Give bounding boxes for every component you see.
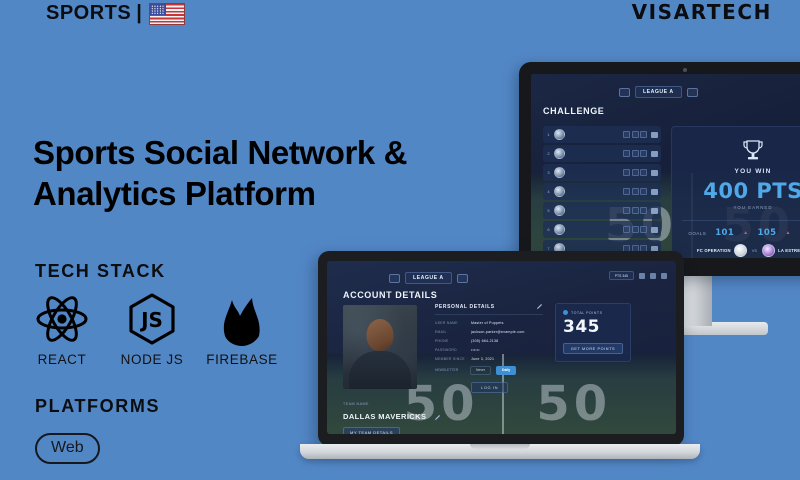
divider xyxy=(435,314,543,315)
laptop-screen: 50 50 LEAGUE A PTS 345 ACCOUNT DETAILS xyxy=(327,261,676,434)
avatar xyxy=(554,224,565,235)
field-label: EMAIL xyxy=(435,330,465,334)
total-points-label: TOTAL POINTS xyxy=(571,311,603,315)
get-more-points-button[interactable]: GET MORE POINTS xyxy=(563,343,623,354)
tech-item-label: FIREBASE xyxy=(206,352,278,367)
monitor-screen-title: CHALLENGE xyxy=(543,106,604,116)
player-photo xyxy=(343,305,417,389)
play-button[interactable] xyxy=(651,189,658,195)
svg-text:JS: JS xyxy=(139,308,163,332)
score-left-value: 101 xyxy=(715,228,734,238)
win-result-panel: YOU WIN 400 PTS YOU EARNED GOALS 101 ▲ 1… xyxy=(671,126,800,258)
list-item[interactable]: 4 xyxy=(543,183,661,200)
match-score-row: GOALS 101 ▲ 105 ▲ GOALS xyxy=(672,228,800,238)
personal-details-title: PERSONAL DETAILS xyxy=(435,304,495,310)
total-points-card: TOTAL POINTS 345 GET MORE POINTS xyxy=(555,303,631,362)
field-yard-marker: 50 xyxy=(536,376,611,432)
play-button[interactable] xyxy=(651,208,658,214)
monitor-screen: 50 50 LEAGUE A CHALLENGE 1 xyxy=(531,74,800,258)
play-button[interactable] xyxy=(651,132,658,138)
platform-badge-web: Web xyxy=(35,433,100,464)
rank-number: 6 xyxy=(546,227,551,232)
avatar xyxy=(554,205,565,216)
avatar xyxy=(554,129,565,140)
team-name-value: DALLAS MAVERICKS xyxy=(343,412,435,421)
laptop-screen-title: ACCOUNT DETAILS xyxy=(343,290,437,300)
stat-chips xyxy=(623,169,647,176)
team-info-block: TEAM NAME DALLAS MAVERICKS MY TEAM DETAI… xyxy=(343,392,435,434)
field-value: •••••• xyxy=(471,348,480,352)
pencil-icon[interactable] xyxy=(536,303,543,310)
points-status-pill[interactable]: PTS 345 xyxy=(609,271,634,280)
category-label: SPORTS xyxy=(46,2,131,25)
personal-details-header: PERSONAL DETAILS xyxy=(435,303,543,310)
monitor-league-nav[interactable]: LEAGUE A xyxy=(619,86,698,98)
field-label: PASSWORD xyxy=(435,348,465,352)
next-arrow-icon[interactable] xyxy=(457,274,468,283)
chart-icon[interactable] xyxy=(650,273,656,279)
team-name-label: TEAM NAME xyxy=(343,402,369,406)
stat-chips xyxy=(623,131,647,138)
league-selector-label[interactable]: LEAGUE A xyxy=(635,86,682,98)
react-icon xyxy=(36,292,88,346)
list-item[interactable]: 1 xyxy=(543,126,661,143)
webcam-icon xyxy=(683,68,687,72)
list-item[interactable]: 3 xyxy=(543,164,661,181)
tech-item-label: NODE JS xyxy=(121,352,184,367)
total-points-value: 345 xyxy=(563,319,623,336)
tech-item-label: REACT xyxy=(38,352,87,367)
rank-number: 3 xyxy=(546,170,551,175)
field-label: MEMBER SINCE xyxy=(435,357,465,361)
score-right-trend-icon: ▲ xyxy=(785,230,790,236)
tech-item-react: REACT xyxy=(28,292,96,367)
league-selector-label[interactable]: LEAGUE A xyxy=(405,272,452,284)
rank-number: 5 xyxy=(546,208,551,213)
newsletter-option-daily[interactable]: Daily xyxy=(496,366,516,375)
total-points-header: TOTAL POINTS xyxy=(563,310,623,315)
match-teams-row: FC OPERATION VS LA ESTRELLA xyxy=(672,244,800,257)
profile-icon[interactable] xyxy=(661,273,667,279)
list-item[interactable]: 2 xyxy=(543,145,661,162)
avatar xyxy=(554,186,565,197)
team-home-name: FC OPERATION xyxy=(697,248,731,254)
brand-logo: VISARTECH xyxy=(632,0,772,24)
score-left-label: GOALS xyxy=(688,231,706,236)
nodejs-icon: JS xyxy=(127,292,177,346)
tech-item-firebase: FIREBASE xyxy=(208,292,276,367)
laptop-base xyxy=(300,444,700,459)
poster-canvas: SPORTS | VISARTECH Sports Social Network… xyxy=(0,0,800,480)
laptop-base-notch xyxy=(470,444,530,449)
pencil-icon[interactable] xyxy=(434,414,441,421)
newsletter-toggle[interactable]: NEWSLETTER Never Daily xyxy=(435,366,543,375)
avatar xyxy=(554,167,565,178)
message-icon[interactable] xyxy=(639,273,645,279)
stat-chips xyxy=(623,188,647,195)
field-value: (305) 684-2138 xyxy=(471,339,498,343)
detail-field-phone: PHONE (305) 684-2138 xyxy=(435,337,543,346)
score-right-value: 105 xyxy=(758,228,777,238)
list-item[interactable]: 5 xyxy=(543,202,661,219)
field-label: PHONE xyxy=(435,339,465,343)
personal-details-panel: PERSONAL DETAILS USER NAME Master of Pup… xyxy=(435,303,543,394)
laptop-device: 50 50 LEAGUE A PTS 345 ACCOUNT DETAILS xyxy=(318,251,684,446)
tech-item-nodejs: JS NODE JS xyxy=(118,292,186,367)
list-item[interactable]: 6 xyxy=(543,221,661,238)
team-away: LA ESTRELLA xyxy=(762,244,800,257)
detail-field-member-since: MEMBER SINCE June 3, 2021 xyxy=(435,354,543,363)
next-arrow-icon[interactable] xyxy=(687,88,698,97)
avatar xyxy=(554,148,565,159)
rank-number: 1 xyxy=(546,132,551,137)
rank-number: 4 xyxy=(546,189,551,194)
firebase-icon xyxy=(219,292,265,346)
rank-number: 2 xyxy=(546,151,551,156)
team-home: FC OPERATION xyxy=(697,244,747,257)
laptop-toolbar[interactable]: PTS 345 xyxy=(609,271,667,280)
tech-stack-heading: TECH STACK xyxy=(35,261,166,282)
divider xyxy=(682,220,800,221)
trophy-icon xyxy=(742,139,764,163)
field-value: June 3, 2021 xyxy=(471,357,494,361)
play-button[interactable] xyxy=(651,170,658,176)
team-home-crest-icon xyxy=(734,244,747,257)
field-label: NEWSLETTER xyxy=(435,368,465,372)
challenge-list: 1 2 3 xyxy=(543,126,661,257)
field-label: USER NAME xyxy=(435,321,465,325)
tech-stack-list: REACT JS NODE JS FIREBASE xyxy=(28,292,276,367)
stat-chips xyxy=(623,150,647,157)
win-result-label: YOU WIN xyxy=(735,168,772,175)
page-title: Sports Social Network & Analytics Platfo… xyxy=(33,133,463,215)
field-value: jackson.parker@example.com xyxy=(471,330,525,334)
header-category: SPORTS | xyxy=(46,2,185,25)
points-badge-icon xyxy=(563,310,568,315)
laptop-league-nav[interactable]: LEAGUE A xyxy=(389,272,468,284)
play-button[interactable] xyxy=(651,227,658,233)
versus-label: VS xyxy=(752,248,757,253)
team-away-crest-icon xyxy=(762,244,775,257)
score-left-trend-icon: ▲ xyxy=(743,230,748,236)
us-flag-icon xyxy=(149,3,185,25)
win-points-caption: YOU EARNED xyxy=(733,205,772,210)
newsletter-option-never[interactable]: Never xyxy=(470,366,491,375)
header-separator: | xyxy=(136,2,142,25)
desktop-monitor: 50 50 LEAGUE A CHALLENGE 1 xyxy=(519,62,800,276)
platforms-heading: PLATFORMS xyxy=(35,396,160,417)
field-value: Master of Puppets xyxy=(471,321,504,325)
team-away-name: LA ESTRELLA xyxy=(778,248,800,254)
prev-arrow-icon[interactable] xyxy=(389,274,400,283)
stat-chips xyxy=(623,207,647,214)
log-in-button[interactable]: LOG IN xyxy=(471,382,508,393)
play-button[interactable] xyxy=(651,151,658,157)
detail-field-email: EMAIL jackson.parker@example.com xyxy=(435,328,543,337)
detail-field-password: PASSWORD •••••• xyxy=(435,345,543,354)
my-team-details-button[interactable]: MY TEAM DETAILS xyxy=(343,427,400,434)
win-points-value: 400 PTS xyxy=(703,179,800,203)
detail-field-username: USER NAME Master of Puppets xyxy=(435,319,543,328)
platforms-list: Web xyxy=(35,433,100,464)
stat-chips xyxy=(623,226,647,233)
prev-arrow-icon[interactable] xyxy=(619,88,630,97)
